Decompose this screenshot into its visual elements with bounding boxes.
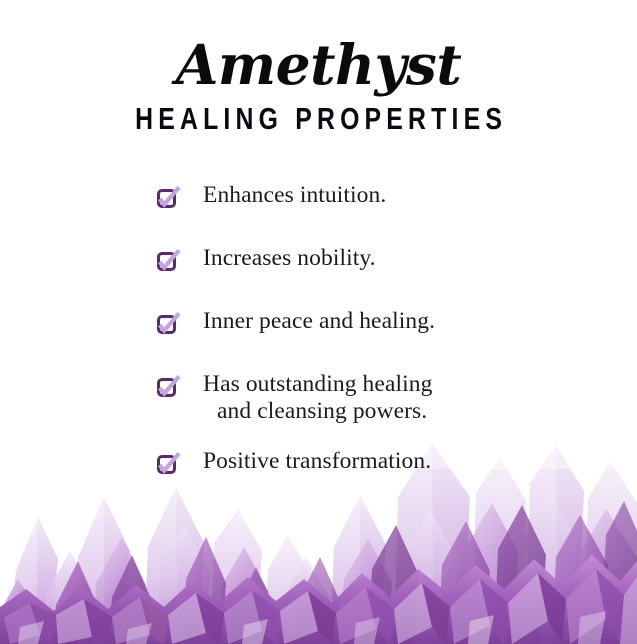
list-item: Positive transformation. bbox=[155, 448, 585, 478]
checked-checkbox-icon[interactable] bbox=[155, 186, 181, 212]
list-item: Has outstanding healing and cleansing po… bbox=[155, 371, 585, 425]
list-item-label: Positive transformation. bbox=[203, 448, 431, 475]
checked-checkbox-icon[interactable] bbox=[155, 249, 181, 275]
page-subtitle: HEALING PROPERTIES bbox=[64, 96, 574, 137]
checkmark-icon bbox=[155, 452, 181, 478]
list-item: Increases nobility. bbox=[155, 245, 585, 275]
checked-checkbox-icon[interactable] bbox=[155, 312, 181, 338]
checkmark-icon bbox=[155, 186, 181, 212]
list-item-label: Inner peace and healing. bbox=[203, 308, 435, 335]
header: Amethyst HEALING PROPERTIES bbox=[0, 0, 637, 137]
list-item-label: Enhances intuition. bbox=[203, 182, 386, 209]
checkmark-icon bbox=[155, 312, 181, 338]
list-item: Enhances intuition. bbox=[155, 182, 585, 212]
list-item-label-line2: and cleansing powers. bbox=[203, 398, 432, 425]
list-item: Inner peace and healing. bbox=[155, 308, 585, 338]
list-item-label: Has outstanding healing and cleansing po… bbox=[203, 371, 432, 425]
page-title: Amethyst bbox=[0, 0, 637, 96]
checked-checkbox-icon[interactable] bbox=[155, 375, 181, 401]
list-item-label: Increases nobility. bbox=[203, 245, 376, 272]
checkmark-icon bbox=[155, 375, 181, 401]
healing-properties-list: Enhances intuition. Increases nobility. bbox=[155, 182, 585, 478]
checkmark-icon bbox=[155, 249, 181, 275]
checked-checkbox-icon[interactable] bbox=[155, 452, 181, 478]
poster-canvas: Amethyst HEALING PROPERTIES Enhances int… bbox=[0, 0, 637, 644]
